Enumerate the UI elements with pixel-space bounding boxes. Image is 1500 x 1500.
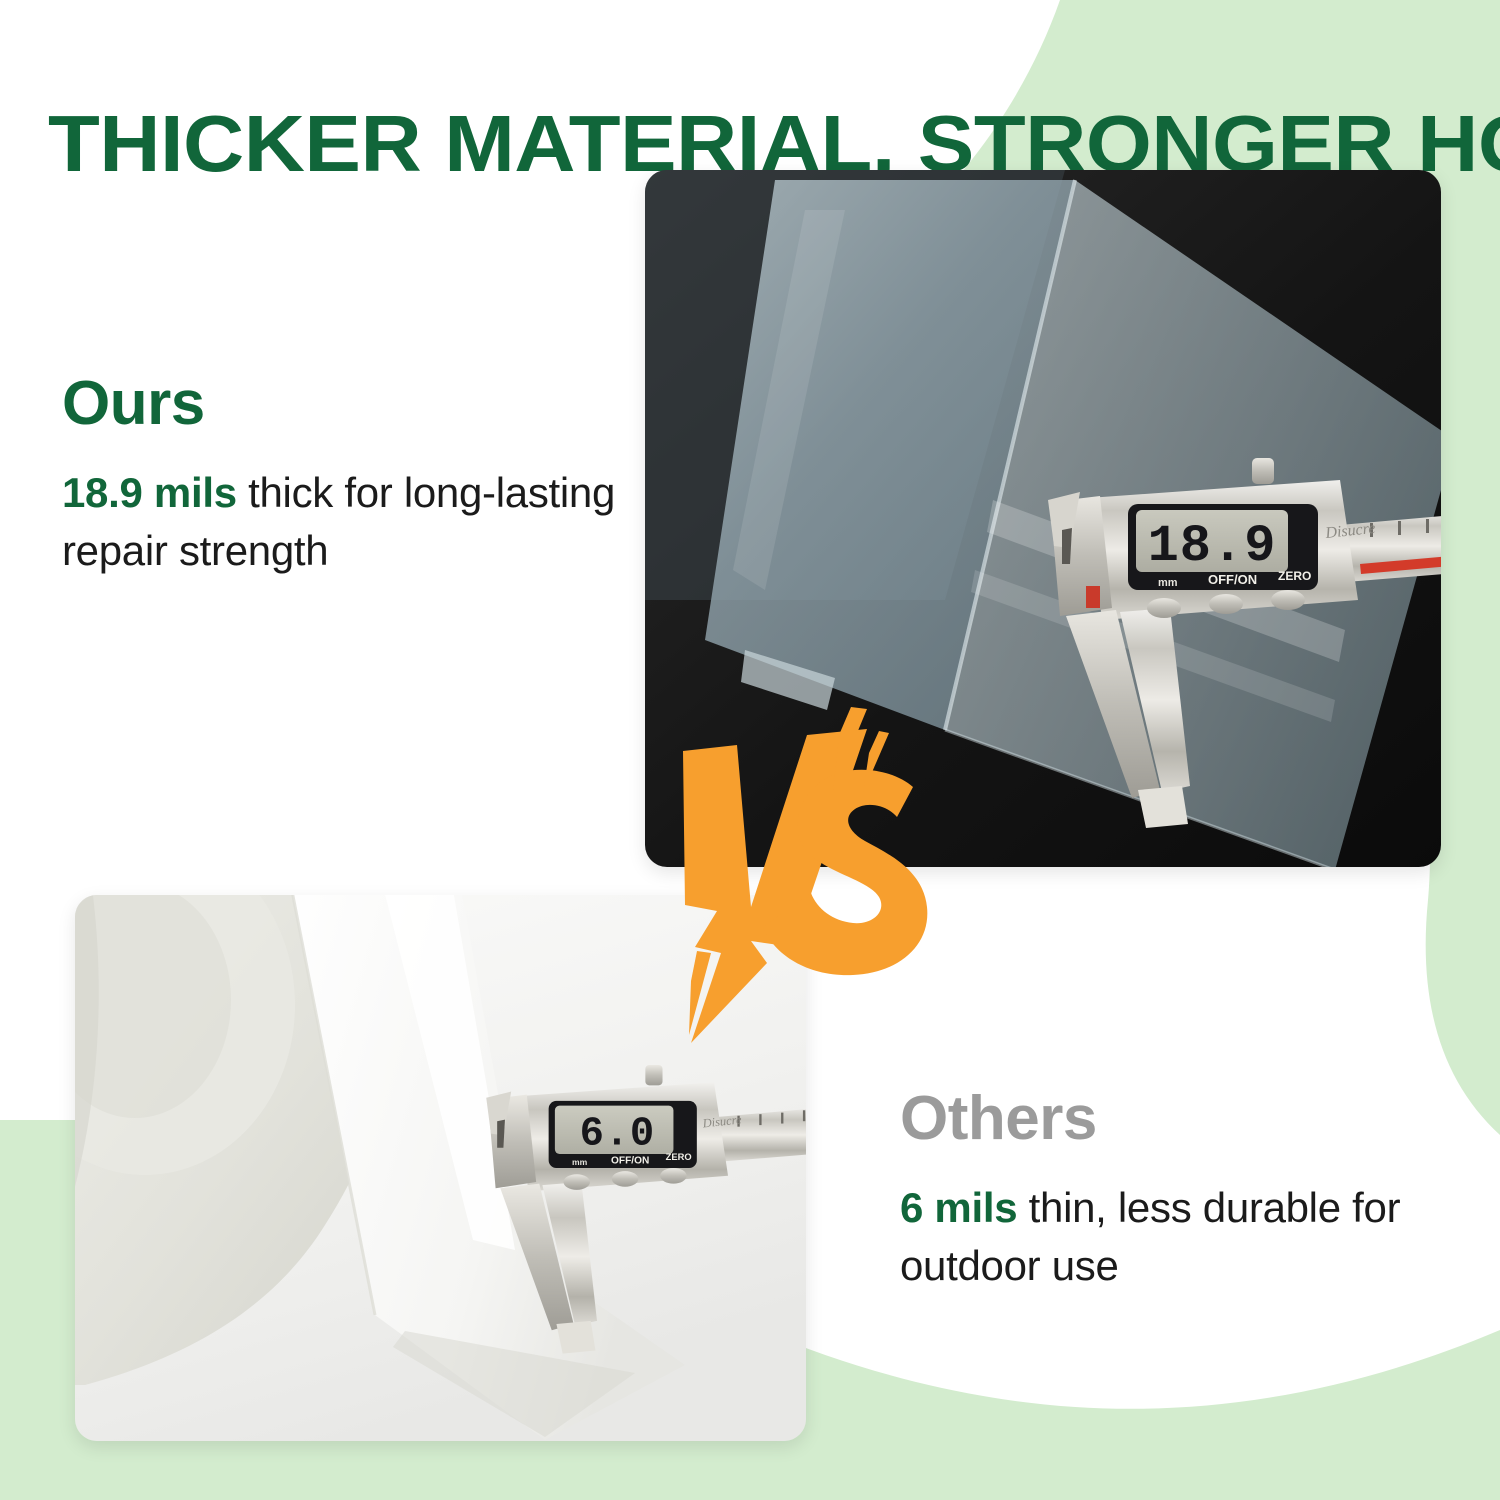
others-thickness-value: 6 mils xyxy=(900,1184,1017,1231)
ours-thickness-value: 18.9 mils xyxy=(62,469,237,516)
ours-text-block: Ours 18.9 mils thick for long-lasting re… xyxy=(62,370,672,580)
caliper-reading-top-display: 18.9 xyxy=(1148,517,1277,576)
others-kicker: Others xyxy=(900,1085,1440,1153)
others-body: 6 mils thin, less durable for outdoor us… xyxy=(900,1179,1440,1295)
svg-text:mm: mm xyxy=(1158,577,1178,589)
others-text-block: Others 6 mils thin, less durable for out… xyxy=(900,1085,1440,1295)
svg-text:ZERO: ZERO xyxy=(1278,569,1311,583)
svg-text:OFF/ON: OFF/ON xyxy=(1208,572,1257,587)
svg-text:ZERO: ZERO xyxy=(666,1152,692,1162)
ours-kicker: Ours xyxy=(62,370,672,438)
ours-body: 18.9 mils thick for long-lasting repair … xyxy=(62,464,672,580)
infographic-canvas: THICKER MATERIAL, STRONGER HOLD xyxy=(0,0,1500,1500)
vs-badge xyxy=(655,695,955,1065)
svg-text:mm: mm xyxy=(572,1157,588,1167)
svg-text:OFF/ON: OFF/ON xyxy=(611,1155,649,1166)
caliper-reading-bottom-display: 6.0 xyxy=(580,1112,655,1158)
